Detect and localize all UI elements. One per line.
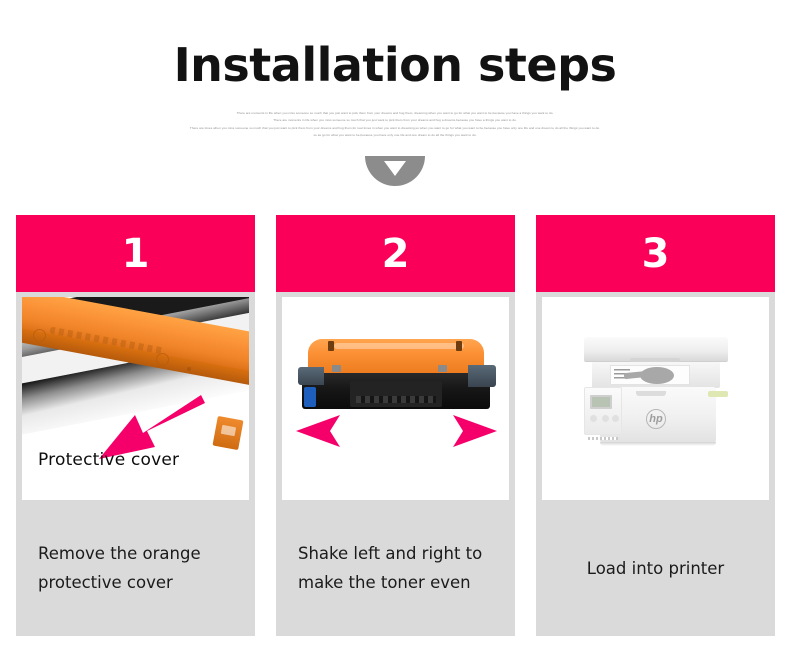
step-card-1[interactable]: 1 Protective cover [16,215,255,636]
printer-model-text [588,437,618,440]
printer-paper-graphic [640,367,674,384]
step-2-header: 2 [276,215,515,292]
intro-blurb: There are moments in life when you miss … [0,110,790,140]
printer-button-2 [602,415,609,422]
cartridge-center-recess [350,381,442,407]
chevron-down-triangle-shape [384,161,406,176]
orange-cover-end-tab [212,416,243,450]
steps-container: 1 Protective cover [16,215,775,636]
step-card-3[interactable]: 3 hp [536,215,775,636]
pink-arrow-right-icon [451,415,499,452]
cartridge-right-ear [468,365,496,387]
printer-base-shadow [600,442,716,446]
toner-cartridge-shape [298,339,494,413]
installation-steps-page: Installation steps There are moments in … [0,0,790,671]
step-1-number: 1 [122,234,150,274]
protective-cover-annotation-label: Protective cover [38,450,179,470]
step-2-number: 2 [382,234,410,274]
step-card-2[interactable]: 2 [276,215,515,636]
step-2-image [282,297,509,500]
cartridge-clip-right [456,341,462,351]
cartridge-nub-left [332,365,341,372]
step-3-number: 3 [642,234,670,274]
printer-button-3 [612,415,619,422]
step-2-caption: Shake left and right to make the toner e… [276,500,515,636]
chevron-down-icon [365,156,425,186]
step-1-caption: Remove the orange protective cover [16,500,255,636]
step-3-caption: Load into printer [536,500,775,636]
cartridge-clip-left [328,341,334,351]
step-1-header: 1 [16,215,255,292]
printer-side-slot [708,391,728,397]
intro-blurb-line-3: There are times when you miss someone so… [0,125,790,132]
intro-blurb-line-2: There are moments in life when you miss … [0,117,790,124]
printer-front-door-tab [636,391,666,396]
printer-button-1 [590,415,597,422]
cartridge-top-highlight [334,343,464,349]
cartridge-nub-right [438,365,447,372]
step-1-image: Protective cover [22,297,249,500]
hp-logo-icon: hp [646,409,666,429]
pink-arrow-left-icon [294,415,342,452]
cover-pin-dot [187,367,191,371]
page-title: Installation steps [0,38,790,92]
cartridge-blue-chip [304,387,316,407]
intro-blurb-line-1: There are moments in life when you miss … [0,110,790,117]
cartridge-left-ear [298,367,324,385]
intro-blurb-line-4: so as go for what you want to be,because… [0,132,790,139]
step-3-header: 3 [536,215,775,292]
printer-lcd-screen [590,395,612,409]
printer-shape: hp [578,333,734,453]
step-3-image: hp [542,297,769,500]
